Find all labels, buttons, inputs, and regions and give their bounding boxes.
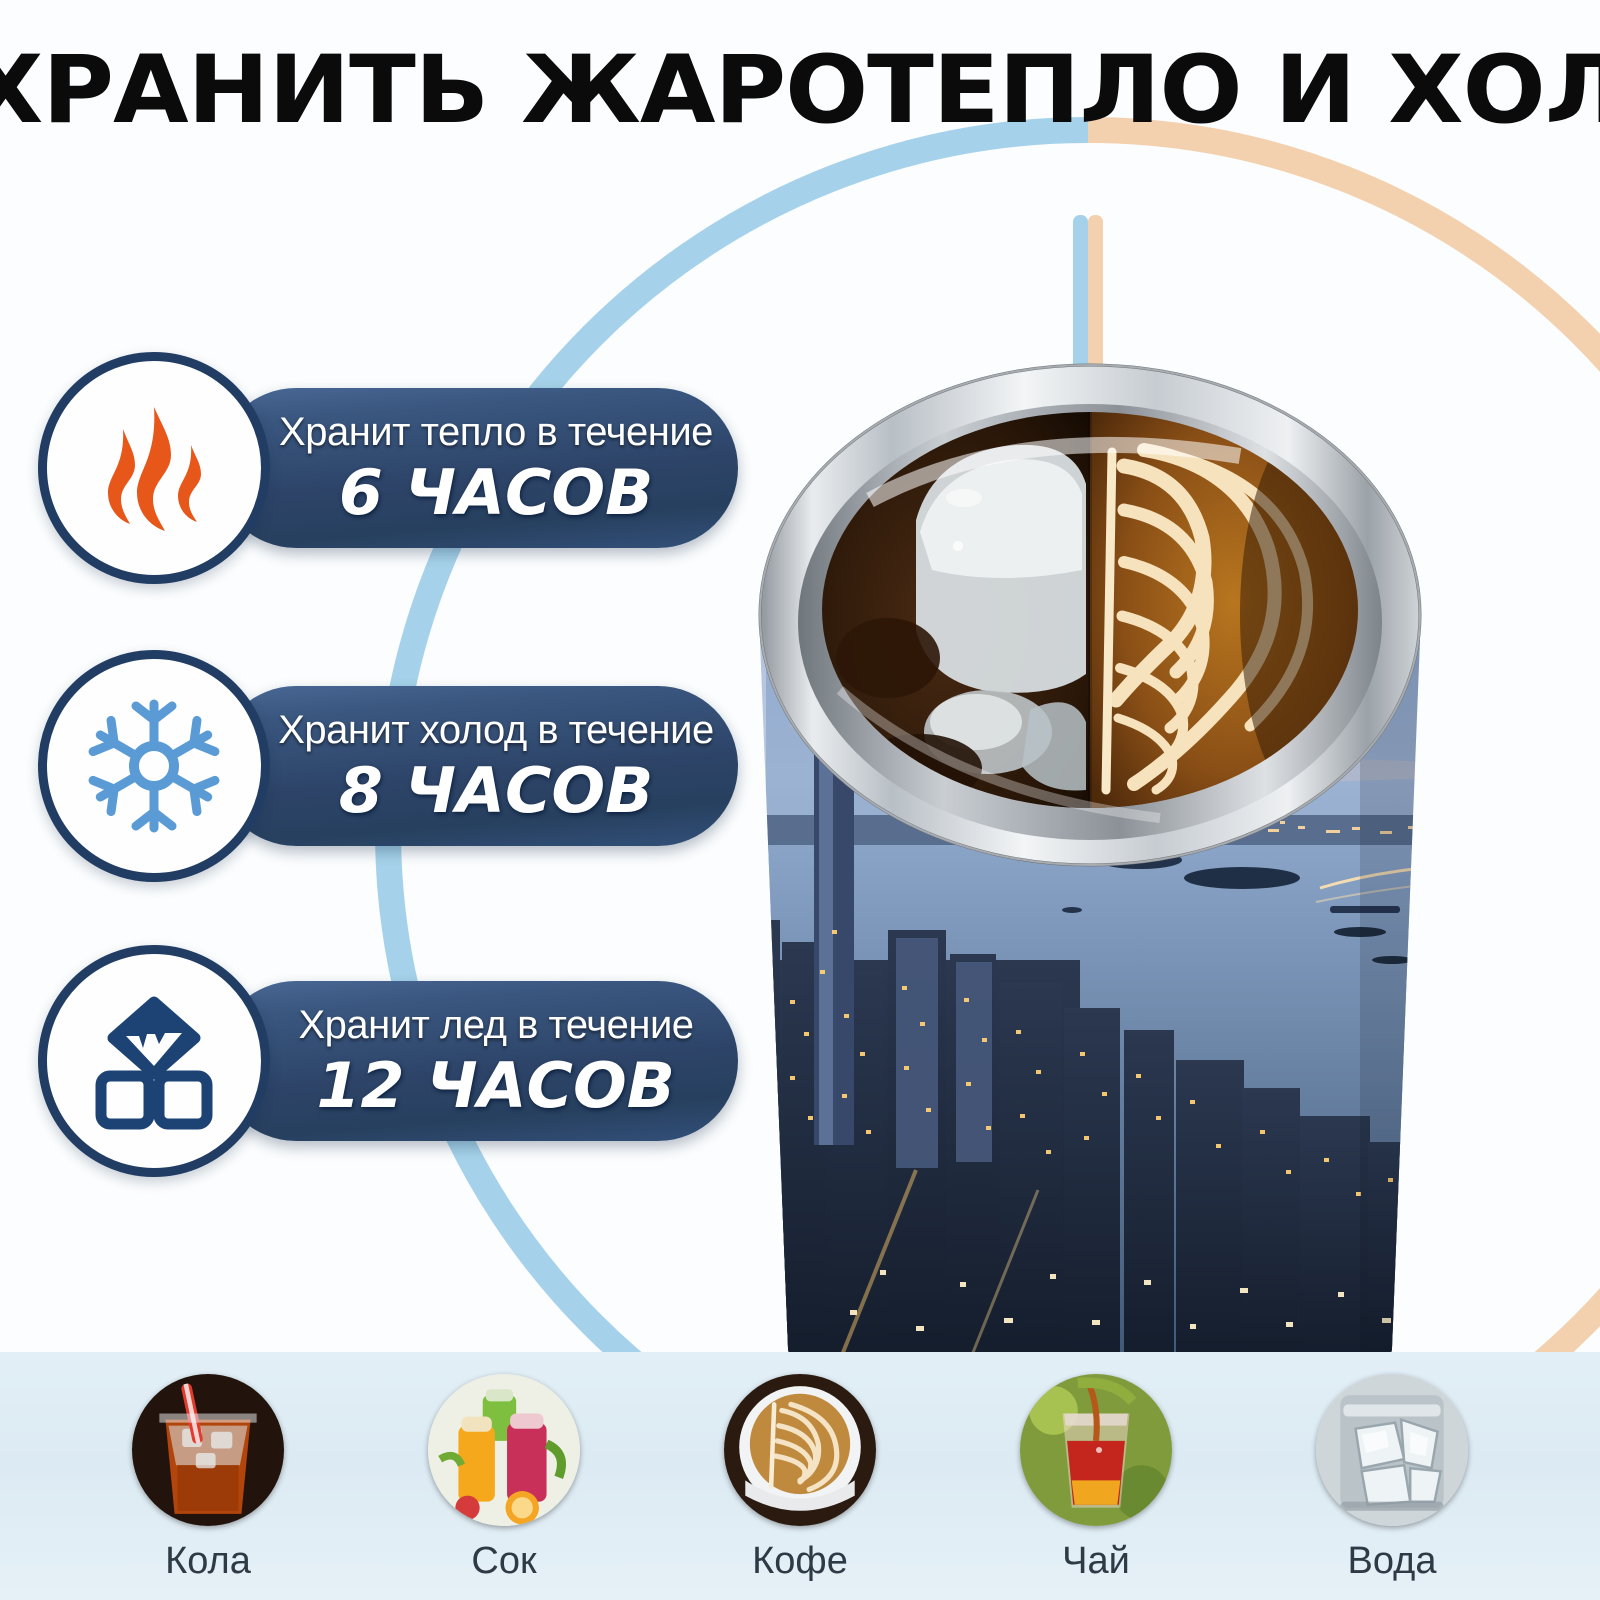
feature-keeps-ice[interactable]: Хранит лед в течение 12 ЧАСОВ	[38, 945, 738, 1177]
feature-description: Хранит лед в течение	[298, 1005, 693, 1045]
compatible-drinks-strip: Кола Сок	[0, 1352, 1600, 1600]
feature-duration: 8 ЧАСОВ	[339, 760, 653, 822]
drink-item[interactable]: Чай	[971, 1352, 1221, 1583]
product-tumbler-image	[720, 270, 1460, 1360]
drink-label: Вода	[1267, 1540, 1517, 1583]
page-title: ХРАНИТЬ ЖАРОТЕПЛО И ХОЛОД	[0, 36, 1600, 145]
feature-list: Хранит тепло в течение 6 ЧАСОВ Хранит хо…	[0, 0, 760, 1300]
feature-pill: Хранит тепло в течение 6 ЧАСОВ	[216, 388, 738, 548]
cup-lid-open-top	[760, 365, 1420, 865]
drink-item[interactable]: Сок	[379, 1352, 629, 1583]
tea-icon	[1020, 1374, 1172, 1526]
feature-pill: Хранит холод в течение 8 ЧАСОВ	[216, 686, 738, 846]
feature-description: Хранит холод в течение	[278, 710, 713, 750]
cola-icon	[132, 1374, 284, 1526]
feature-icon-circle	[38, 650, 270, 882]
feature-icon-circle	[38, 352, 270, 584]
flame-icon	[79, 393, 229, 543]
feature-description: Хранит тепло в течение	[279, 412, 713, 452]
drink-label: Сок	[379, 1540, 629, 1583]
drink-label: Кола	[83, 1540, 333, 1583]
feature-icon-circle	[38, 945, 270, 1177]
snowflake-icon	[78, 690, 230, 842]
feature-keeps-warm[interactable]: Хранит тепло в течение 6 ЧАСОВ	[38, 352, 738, 584]
feature-duration: 12 ЧАСОВ	[317, 1055, 675, 1117]
feature-keeps-cold[interactable]: Хранит холод в течение 8 ЧАСОВ	[38, 650, 738, 882]
feature-duration: 6 ЧАСОВ	[339, 462, 653, 524]
water-icon	[1316, 1374, 1468, 1526]
juice-icon	[428, 1374, 580, 1526]
drink-item[interactable]: Кола	[83, 1352, 333, 1583]
drink-item[interactable]: Кофе	[675, 1352, 925, 1583]
drink-item[interactable]: Вода	[1267, 1352, 1517, 1583]
drink-label: Кофе	[675, 1540, 925, 1583]
feature-pill: Хранит лед в течение 12 ЧАСОВ	[216, 981, 738, 1141]
ice-cubes-icon	[79, 986, 229, 1136]
coffee-icon	[724, 1374, 876, 1526]
drink-label: Чай	[971, 1540, 1221, 1583]
